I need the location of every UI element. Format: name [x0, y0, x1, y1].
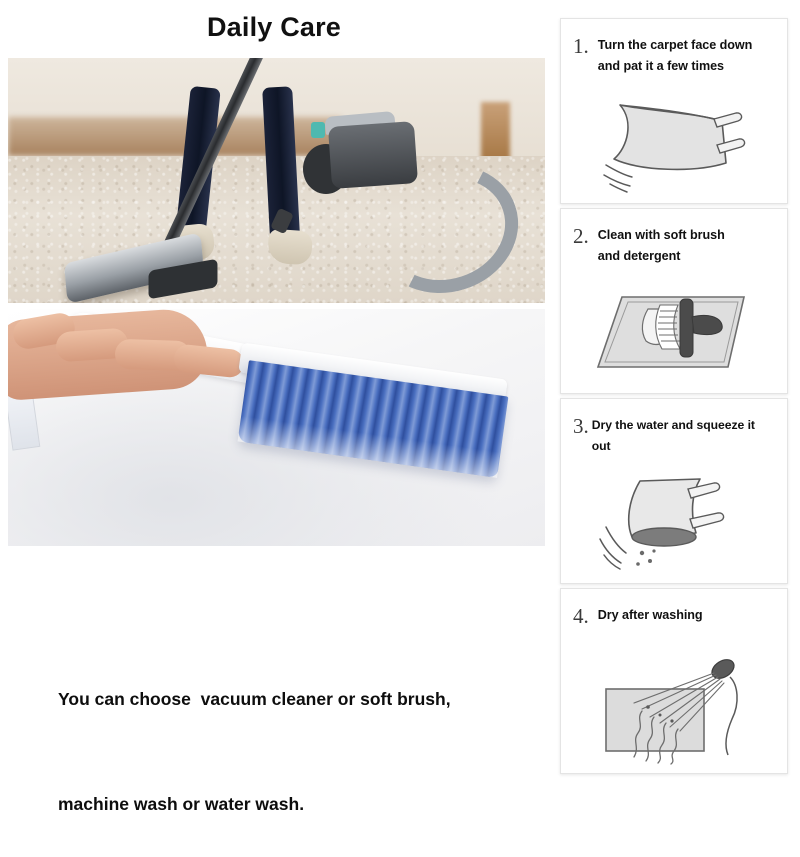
step-card-3: 3. Dry the water and squeeze it out: [560, 398, 788, 584]
photo-soft-brush: [8, 309, 545, 546]
step-3-illustration: [561, 465, 787, 577]
step-1-number: 1.: [573, 35, 589, 57]
brush-on-mat-icon: [584, 275, 764, 387]
photo-vacuum-on-carpet: [8, 58, 545, 303]
care-caption-line-1: You can choose vacuum cleaner or soft br…: [58, 682, 528, 717]
step-2-heading: 2. Clean with soft brush and detergent: [561, 209, 787, 267]
shower-rinse-mat-icon: [584, 655, 764, 767]
step-1-line-1: Turn the carpet face down: [598, 38, 753, 52]
step-4-text: Dry after washing: [598, 605, 703, 626]
step-2-line-2: and detergent: [598, 249, 681, 263]
step-3-number: 3.: [573, 415, 589, 437]
step-card-2: 2. Clean with soft brush and detergent: [560, 208, 788, 394]
step-4-number: 4.: [573, 605, 589, 627]
care-caption: You can choose vacuum cleaner or soft br…: [58, 612, 528, 857]
step-4-illustration: [561, 655, 787, 767]
step-1-illustration: [561, 85, 787, 197]
step-1-text: Turn the carpet face down and pat it a f…: [598, 35, 753, 77]
step-3-heading: 3. Dry the water and squeeze it out: [561, 399, 787, 457]
squeeze-water-out-icon: [584, 465, 764, 577]
step-4-line-1: Dry after washing: [598, 608, 703, 622]
step-4-heading: 4. Dry after washing: [561, 589, 787, 627]
page-title: Daily Care: [0, 12, 548, 43]
step-2-text: Clean with soft brush and detergent: [598, 225, 725, 267]
step-3-text: Dry the water and squeeze it out: [592, 415, 775, 457]
vacuum-teal-detail: [311, 122, 325, 138]
step-1-line-2: and pat it a few times: [598, 59, 724, 73]
care-caption-line-2: machine wash or water wash.: [58, 787, 528, 822]
step-card-1: 1. Turn the carpet face down and pat it …: [560, 18, 788, 204]
carpet-flipped-and-patted-icon: [584, 85, 764, 197]
step-2-number: 2.: [573, 225, 589, 247]
step-2-line-1: Clean with soft brush: [598, 228, 725, 242]
step-2-illustration: [561, 275, 787, 387]
step-card-4: 4. Dry after washing: [560, 588, 788, 774]
step-1-heading: 1. Turn the carpet face down and pat it …: [561, 19, 787, 77]
step-3-line-1: Dry the water and squeeze it out: [592, 418, 755, 453]
